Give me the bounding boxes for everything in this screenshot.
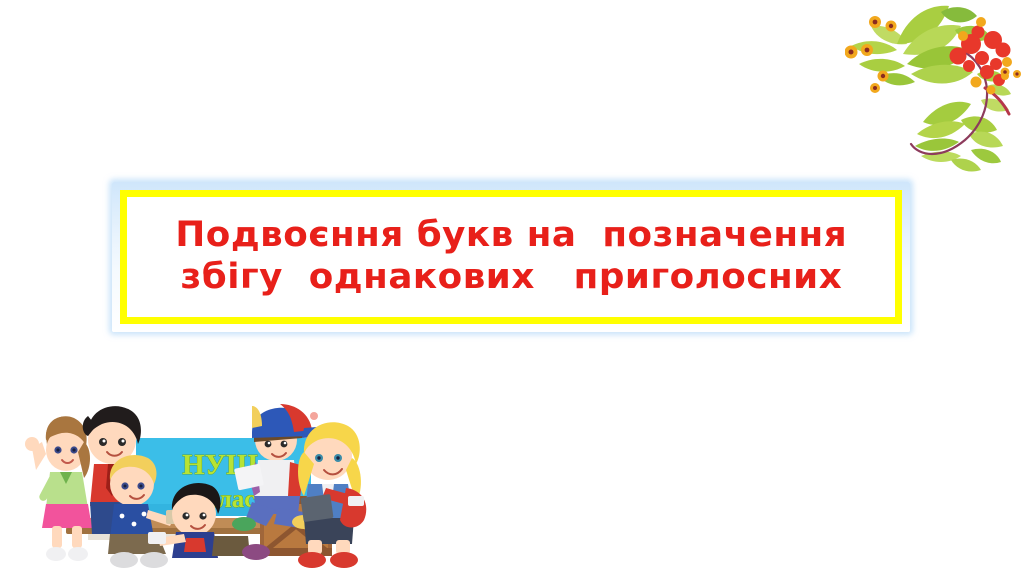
title-inner-frame: Подвоєння букв на позначення збігу однак… xyxy=(120,190,902,324)
school-children-illustration: НУШ 5 клас xyxy=(8,392,398,572)
ornament-leaves xyxy=(851,6,1011,172)
child-girl-blonde-backpack xyxy=(298,422,366,568)
slide-canvas: Подвоєння букв на позначення збігу однак… xyxy=(0,0,1024,576)
title-line-1: Подвоєння букв на позначення xyxy=(175,216,847,256)
ornament-berries xyxy=(845,16,1021,95)
child-girl-waving xyxy=(25,416,92,561)
title-box: Подвоєння букв на позначення збігу однак… xyxy=(112,182,910,332)
petrykivka-floral-ornament xyxy=(845,0,1024,175)
title-line-2: збігу однакових приголосних xyxy=(180,258,842,298)
